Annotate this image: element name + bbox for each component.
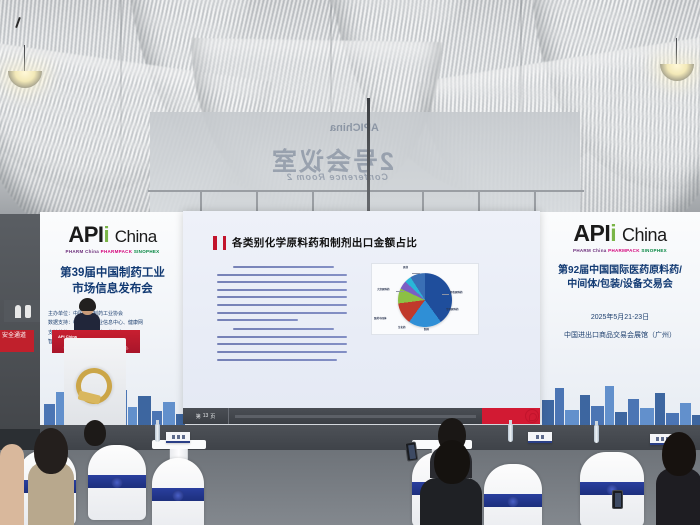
lamp-wire: [676, 38, 677, 64]
logo-dot: i: [610, 220, 616, 246]
title-accent-bar-icon: [223, 236, 226, 250]
pie-label-text: 医药中间体: [374, 317, 387, 320]
ceiling-sign-brand: APIChina: [330, 122, 379, 134]
nameplate: [528, 432, 552, 443]
person-icon: [15, 305, 21, 318]
pie-label-text: 专利原料药: [446, 308, 459, 311]
banner-right-location: 中国进出口商品交易会展馆（广州）: [540, 331, 700, 342]
association-logo-icon: [525, 409, 539, 423]
pie-label-text: 其他: [403, 266, 408, 269]
logo-china-text: China: [622, 225, 667, 245]
phone-device: [612, 490, 623, 509]
audience-person-raised-hand: [0, 424, 24, 525]
banner-right: APIi China PHARM China PHARMPACK SINOPHE…: [540, 212, 700, 430]
banner-info-row: 数据支持：中国医药工业信息中心、健康网: [48, 319, 177, 328]
nameplate: [166, 432, 190, 443]
sublogo-pharmchina: PHARM China: [66, 249, 100, 254]
pie-label-text: 特色原料药: [450, 291, 463, 294]
logo-api-text: API: [68, 222, 103, 247]
audience-person: [656, 432, 700, 525]
audience-person-filming: [420, 440, 482, 525]
slide-footer: 第 13 页: [183, 408, 540, 424]
sublogo-pharmpack: PHARMPACK: [608, 248, 640, 253]
slide-title-row: 各类别化学原料药和制剂出口金额占比: [213, 235, 417, 250]
logo-dot: i: [104, 222, 110, 247]
banner-right-title: 第92届中国国际医药原料药/ 中间体/包装/设备交易会: [540, 264, 700, 291]
slide-body-paragraph: [217, 266, 347, 366]
slide-title: 各类别化学原料药和制剂出口金额占比: [232, 235, 417, 250]
drape-fold: [120, 0, 122, 215]
api-china-logo-right: APIi China: [540, 222, 700, 245]
audience-chair: [580, 452, 644, 525]
pie-slices: [398, 273, 452, 327]
banner-left-title-line2: 市场信息发布会: [40, 282, 185, 298]
slide: 各类别化学原料药和制剂出口金额占比 其他: [183, 211, 540, 424]
ceiling-sign-en: Conference Room 2: [286, 172, 388, 182]
sublogos-right: PHARM China PHARMPACK SINOPHEX: [540, 248, 700, 253]
banner-left-title: 第39届中国制药工业 市场信息发布会: [40, 266, 185, 297]
sublogo-pharmpack: PHARMPACK: [101, 249, 133, 254]
pie-label-text: 制剂: [424, 328, 429, 331]
exit-sign-line1: 安全通道: [0, 330, 34, 343]
projection-screen: 各类别化学原料药和制剂出口金额占比 其他: [183, 211, 540, 424]
banner-info-row: 主办单位：中国化学制药工业协会: [48, 310, 177, 319]
banner-right-date: 2025年5月21-23日: [540, 313, 700, 324]
water-bottle: [594, 425, 599, 443]
pie-label: 生化药: [398, 326, 406, 329]
sublogo-sinophex: SINOPHEX: [641, 248, 667, 253]
sublogos-left: PHARM China PHARMPACK SINOPHEX: [40, 249, 185, 254]
title-accent-bar-icon: [213, 236, 217, 250]
water-bottle: [155, 424, 160, 442]
restroom-sign: [4, 300, 42, 322]
speaker-hair: [79, 298, 96, 311]
pie-label: 其他: [403, 266, 408, 269]
pie-label: 专利原料药: [446, 308, 459, 311]
water-bottle: [508, 424, 513, 442]
audience-chair: [484, 464, 542, 525]
pie-label: 特色原料药: [450, 291, 463, 294]
sublogo-pharmchina: PHARM China: [573, 248, 607, 253]
banner-left-title-line1: 第39届中国制药工业: [40, 266, 185, 282]
sublogo-sinophex: SINOPHEX: [134, 249, 160, 254]
skyline-graphic: [540, 372, 700, 430]
page-label: 第: [196, 413, 201, 420]
audience-person: [80, 420, 110, 460]
lamp-wire: [24, 45, 25, 71]
exit-sign: 安全通道: [0, 330, 34, 352]
audience-person: [28, 428, 74, 525]
logo-china-text: China: [115, 227, 157, 246]
pie-label: 大宗原料药: [377, 288, 390, 291]
support-pole: [367, 98, 370, 218]
logo-api-text: API: [573, 220, 610, 246]
api-china-logo-left: APIi China: [40, 224, 185, 246]
pie-chart: 其他 特色原料药 专利原料药 大宗原料药 医药中间体 生化药 制: [371, 263, 479, 335]
pie-label-text: 大宗原料药: [377, 288, 390, 291]
photo-scene: APIChina 2号会议室 Conference Room 2 安全通道: [0, 0, 700, 525]
banner-right-title-line2: 中间体/包装/设备交易会: [540, 278, 700, 292]
audience-chair: [152, 458, 204, 525]
page-indicator: 第 13 页: [183, 408, 229, 424]
wheelchair-icon: [25, 305, 31, 318]
pie-label: 制剂: [424, 328, 429, 331]
pie-label: 医药中间体: [374, 317, 387, 320]
page-number: 13: [203, 413, 209, 419]
pie-label-text: 生化药: [398, 326, 406, 329]
banner-right-title-line1: 第92届中国国际医药原料药/: [540, 264, 700, 278]
page-unit: 页: [210, 413, 215, 420]
